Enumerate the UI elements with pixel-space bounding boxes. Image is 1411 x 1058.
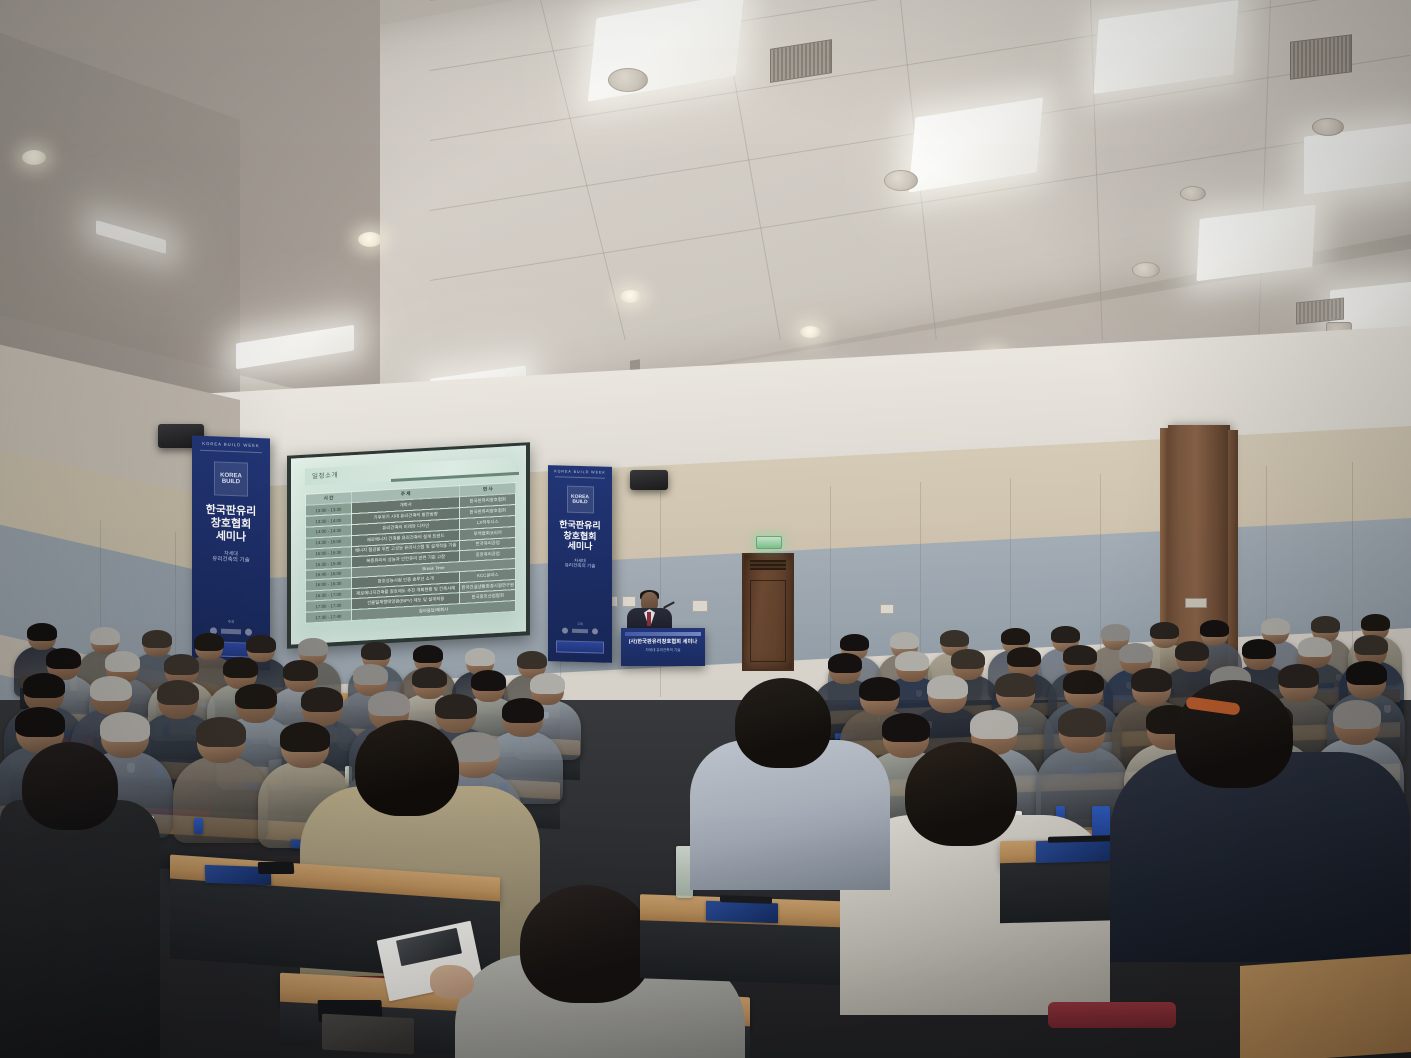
vignette-overlay <box>0 0 1411 1058</box>
seminar-hall-photo: 일정소개 시 간 주 제 연 사 13:00 - 13:30개회사한국판유리창호… <box>0 0 1411 1058</box>
